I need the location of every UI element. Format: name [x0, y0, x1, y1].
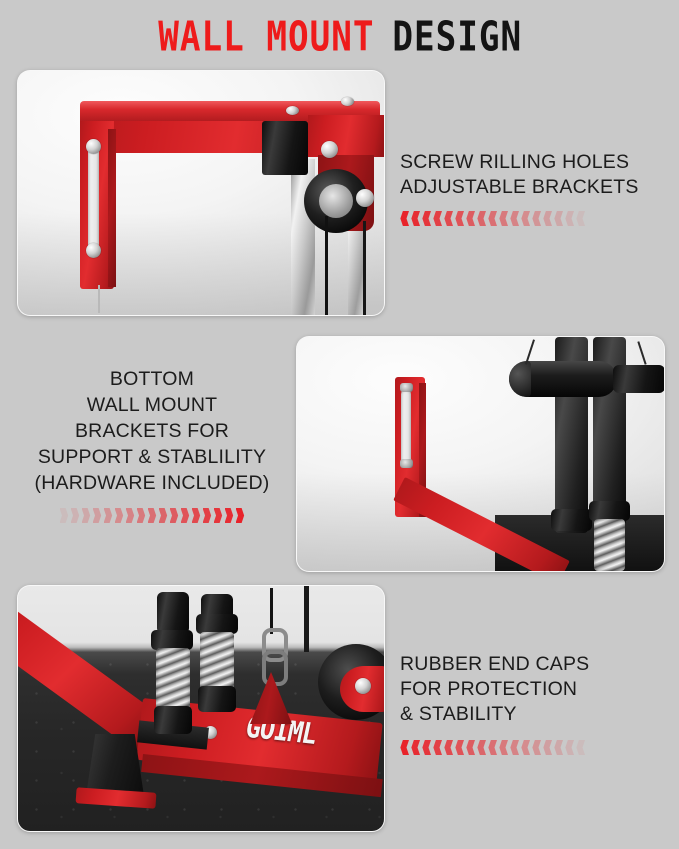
spring-collar-right	[196, 614, 238, 634]
chevron-right	[126, 508, 135, 523]
studio-background-2	[297, 337, 664, 571]
chevron-strip-left-3	[400, 740, 589, 755]
panel-rubber-end-cap: GOIML	[17, 585, 385, 832]
spring-collar-left	[151, 630, 193, 650]
chevron-left	[422, 740, 431, 755]
spring-left	[156, 648, 190, 710]
page-title: WALL MOUNTDESIGN	[0, 14, 679, 54]
wheel-bolt	[355, 678, 371, 694]
chevron-left	[455, 211, 464, 226]
chevron-left	[466, 211, 475, 226]
screw-bolt-lower	[86, 243, 101, 258]
chevron-left	[488, 211, 497, 226]
chevron-left	[565, 740, 574, 755]
chevron-strip-left-1	[400, 211, 639, 226]
chevron-left	[576, 211, 585, 226]
chevron-right	[137, 508, 146, 523]
chevron-left	[576, 740, 585, 755]
chevron-right	[225, 508, 234, 523]
chevron-right	[93, 508, 102, 523]
chevron-left	[400, 211, 409, 226]
screw-bolt-upper-2	[400, 383, 413, 392]
screw-bolt-top-a	[286, 106, 299, 115]
chevron-left	[433, 211, 442, 226]
spring-right-2	[200, 632, 234, 690]
caption-3-line-3: & STABILITY	[400, 702, 589, 727]
chevron-left	[477, 211, 486, 226]
caption-rubber-end-caps: RUBBER END CAPS FOR PROTECTION & STABILI…	[400, 652, 589, 755]
cable-3	[637, 341, 646, 364]
screw-bolt-top-b	[341, 97, 354, 106]
chevron-left	[422, 211, 431, 226]
chevron-right	[236, 508, 245, 523]
infographic-stage: WALL MOUNTDESIGN	[0, 0, 679, 849]
cable	[325, 216, 328, 316]
bracket-right-body	[308, 115, 384, 157]
caption-bottom-wall-mount: BOTTOM WALL MOUNT BRACKETS FOR SUPPORT &…	[8, 366, 296, 523]
chevron-strip-right-2	[8, 508, 296, 523]
caption-3-line-2: FOR PROTECTION	[400, 677, 589, 702]
chevron-left	[532, 740, 541, 755]
chevron-right	[82, 508, 91, 523]
chevron-right	[181, 508, 190, 523]
title-black-word: DESIGN	[392, 14, 522, 61]
chevron-left	[400, 740, 409, 755]
chevron-right	[159, 508, 168, 523]
chevron-right	[60, 508, 69, 523]
panel-bottom-wall-bracket	[296, 336, 665, 572]
title-red-word: WALL MOUNT	[158, 14, 374, 61]
post-collar-right	[589, 501, 630, 521]
chevron-left	[543, 740, 552, 755]
caption-1-line-1: SCREW RILLING HOLES	[400, 150, 639, 175]
adjustable-slot-2	[401, 389, 411, 467]
spring-right	[594, 519, 625, 571]
chevron-left	[521, 211, 530, 226]
adjust-knob	[321, 141, 338, 158]
chevron-right	[214, 508, 223, 523]
studio-background	[18, 71, 384, 315]
gym-floor-background: GOIML	[18, 586, 384, 831]
chevron-left	[532, 211, 541, 226]
chevron-left	[477, 740, 486, 755]
post-collar-left	[551, 509, 592, 531]
chevron-left	[466, 740, 475, 755]
chevron-right	[71, 508, 80, 523]
bracket-plate-edge	[108, 129, 116, 287]
chevron-left	[455, 740, 464, 755]
caption-2-line-3: BRACKETS FOR	[8, 418, 296, 444]
chevron-right	[170, 508, 179, 523]
chevron-left	[554, 211, 563, 226]
chevron-left	[521, 740, 530, 755]
chevron-left	[411, 211, 420, 226]
wheel-support-post	[304, 586, 309, 652]
caption-1-line-2: ADJUSTABLE BRACKETS	[400, 175, 639, 200]
chevron-left	[543, 211, 552, 226]
chevron-left	[499, 211, 508, 226]
spring-base-left	[154, 706, 192, 734]
chevron-right	[148, 508, 157, 523]
pulley-hub	[319, 184, 353, 218]
chevron-left	[499, 740, 508, 755]
rubber-end-cap	[86, 734, 144, 796]
chevron-left	[510, 211, 519, 226]
chevron-left	[411, 740, 420, 755]
carabiner-link-lower	[262, 650, 288, 686]
spring-base-right	[198, 686, 236, 712]
chevron-left	[444, 211, 453, 226]
chevron-right	[203, 508, 212, 523]
panel-top-wall-bracket	[17, 70, 385, 316]
black-end-cap	[262, 121, 308, 175]
caption-2-line-2: WALL MOUNT	[8, 392, 296, 418]
post-top-left	[157, 592, 189, 634]
adjustable-slot	[88, 143, 99, 253]
chevron-left	[565, 211, 574, 226]
caption-3-line-1: RUBBER END CAPS	[400, 652, 589, 677]
pulley-bolt	[356, 189, 374, 207]
caption-2-line-1: BOTTOM	[8, 366, 296, 392]
anchor-pin	[98, 285, 100, 313]
handle-end-cap	[509, 361, 531, 397]
handle-bracket	[613, 365, 665, 393]
chevron-left	[510, 740, 519, 755]
screw-bolt-lower-2	[400, 459, 413, 468]
chevron-left	[444, 740, 453, 755]
chevron-right	[115, 508, 124, 523]
chevron-left	[488, 740, 497, 755]
chevron-right	[192, 508, 201, 523]
caption-2-line-5: (HARDWARE INCLUDED)	[8, 470, 296, 496]
chevron-left	[433, 740, 442, 755]
caption-screw-rilling-holes: SCREW RILLING HOLES ADJUSTABLE BRACKETS	[400, 150, 639, 226]
cable-secondary	[363, 221, 366, 316]
caption-2-line-4: SUPPORT & STABLILITY	[8, 444, 296, 470]
chevron-right	[104, 508, 113, 523]
screw-bolt-upper	[86, 139, 101, 154]
chevron-left	[554, 740, 563, 755]
